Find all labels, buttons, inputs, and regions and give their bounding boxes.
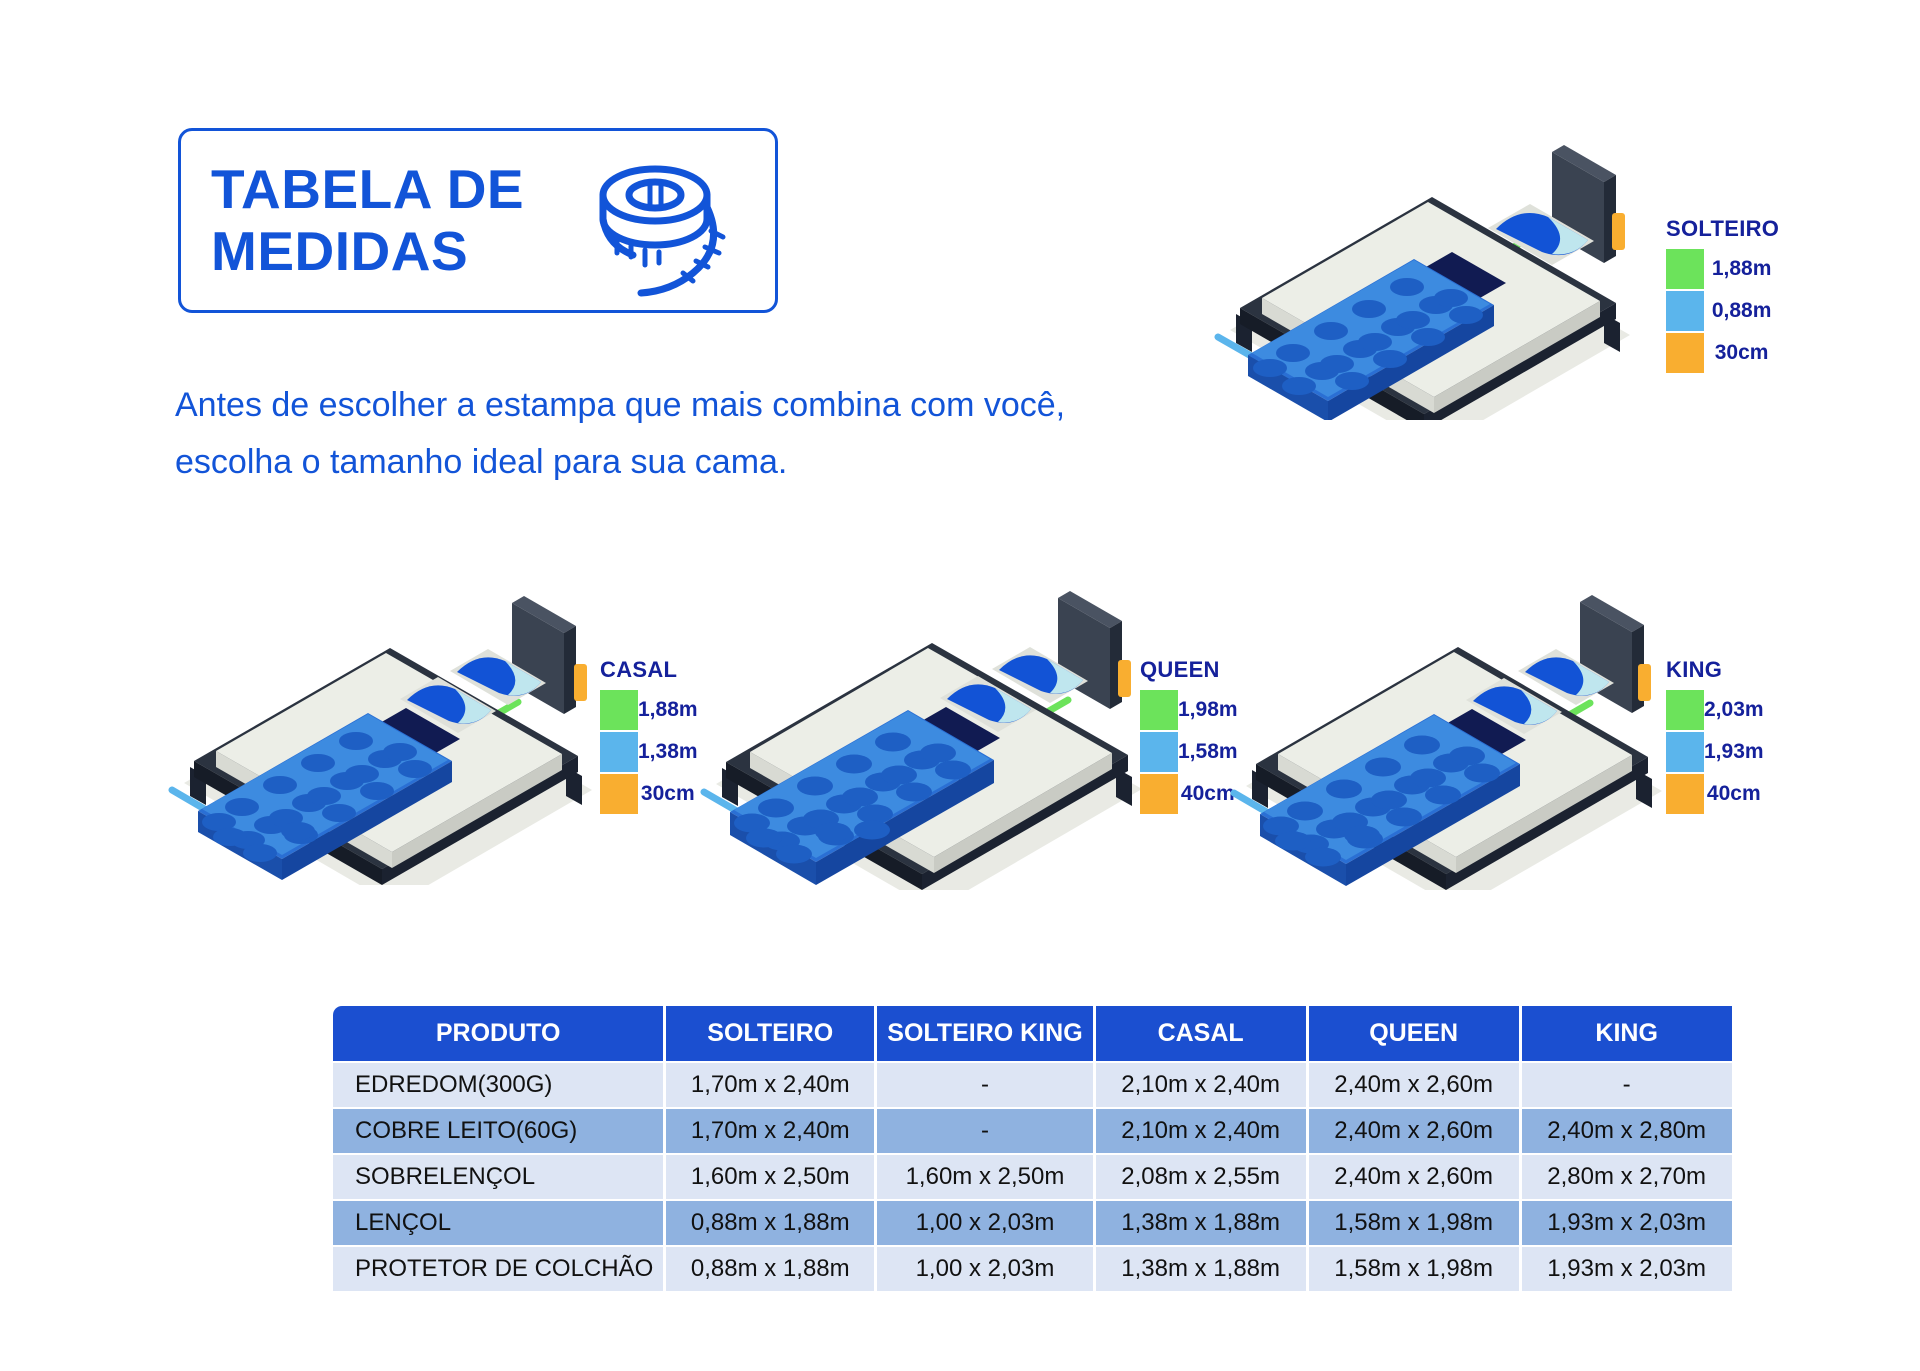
- cell-king: -: [1522, 1063, 1732, 1107]
- table-row: COBRE LEITO(60G) 1,70m x 2,40m - 2,10m x…: [333, 1109, 1732, 1153]
- cell-solteiro: 1,70m x 2,40m: [666, 1063, 874, 1107]
- swatch-green-icon: [600, 690, 638, 730]
- legend-solteiro: SOLTEIRO 1,88m 0,88m 30cm: [1666, 216, 1779, 374]
- cell-solteiro-king: 1,00 x 2,03m: [877, 1247, 1092, 1291]
- cell-casal: 2,10m x 2,40m: [1096, 1063, 1306, 1107]
- table-row: SOBRELENÇOL 1,60m x 2,50m 1,60m x 2,50m …: [333, 1155, 1732, 1199]
- swatch-lightblue-icon: [1666, 291, 1704, 331]
- legend-value: 1,88m: [1704, 257, 1779, 281]
- legend-title-solteiro: SOLTEIRO: [1666, 216, 1779, 242]
- swatch-orange-icon: [1666, 333, 1704, 373]
- legend-row: 30cm: [1666, 332, 1779, 374]
- legend-row: 2,03m: [1666, 689, 1764, 731]
- table-row: PROTETOR DE COLCHÃO 0,88m x 1,88m 1,00 x…: [333, 1247, 1732, 1291]
- cell-solteiro-king: 1,00 x 2,03m: [877, 1201, 1092, 1245]
- cell-casal: 2,10m x 2,40m: [1096, 1109, 1306, 1153]
- swatch-lightblue-icon: [1140, 732, 1178, 772]
- column-header-solteiro: SOLTEIRO: [666, 1006, 874, 1061]
- bed-illustration-solteiro: [1200, 100, 1660, 420]
- table-header-row: PRODUTO SOLTEIRO SOLTEIRO KING CASAL QUE…: [333, 1006, 1732, 1061]
- size-table: PRODUTO SOLTEIRO SOLTEIRO KING CASAL QUE…: [330, 1004, 1735, 1293]
- cell-queen: 1,58m x 1,98m: [1309, 1247, 1519, 1291]
- title-box: TABELA DE MEDIDAS: [178, 128, 778, 313]
- cell-king: 1,93m x 2,03m: [1522, 1201, 1732, 1245]
- cell-king: 2,40m x 2,80m: [1522, 1109, 1732, 1153]
- cell-produto: COBRE LEITO(60G): [333, 1109, 663, 1153]
- cell-queen: 2,40m x 2,60m: [1309, 1109, 1519, 1153]
- cell-produto: EDREDOM(300G): [333, 1063, 663, 1107]
- table-row: LENÇOL 0,88m x 1,88m 1,00 x 2,03m 1,38m …: [333, 1201, 1732, 1245]
- swatch-orange-icon: [1140, 774, 1178, 814]
- legend-row: 1,93m: [1666, 731, 1764, 773]
- legend-value: 0,88m: [1704, 299, 1779, 323]
- column-header-casal: CASAL: [1096, 1006, 1306, 1061]
- table-row: EDREDOM(300G) 1,70m x 2,40m - 2,10m x 2,…: [333, 1063, 1732, 1107]
- cell-king: 1,93m x 2,03m: [1522, 1247, 1732, 1291]
- legend-value: 1,93m: [1704, 740, 1764, 764]
- cell-queen: 2,40m x 2,60m: [1309, 1155, 1519, 1199]
- swatch-orange-icon: [600, 774, 638, 814]
- legend-value: 2,03m: [1704, 698, 1764, 722]
- swatch-lightblue-icon: [1666, 732, 1704, 772]
- legend-title-king: KING: [1666, 657, 1764, 683]
- cell-queen: 2,40m x 2,60m: [1309, 1063, 1519, 1107]
- swatch-green-icon: [1666, 249, 1704, 289]
- cell-solteiro-king: -: [877, 1109, 1092, 1153]
- cell-solteiro: 1,70m x 2,40m: [666, 1109, 874, 1153]
- legend-row: 0,88m: [1666, 290, 1779, 332]
- swatch-lightblue-icon: [600, 732, 638, 772]
- column-header-queen: QUEEN: [1309, 1006, 1519, 1061]
- page-title: TABELA DE MEDIDAS: [211, 159, 524, 282]
- legend-king: KING 2,03m 1,93m 40cm: [1666, 657, 1764, 815]
- cell-solteiro: 0,88m x 1,88m: [666, 1247, 874, 1291]
- cell-produto: SOBRELENÇOL: [333, 1155, 663, 1199]
- legend-value: 40cm: [1704, 782, 1764, 806]
- cell-produto: LENÇOL: [333, 1201, 663, 1245]
- column-header-produto: PRODUTO: [333, 1006, 663, 1061]
- cell-solteiro-king: -: [877, 1063, 1092, 1107]
- cell-solteiro: 1,60m x 2,50m: [666, 1155, 874, 1199]
- swatch-green-icon: [1140, 690, 1178, 730]
- swatch-orange-icon: [1666, 774, 1704, 814]
- bed-illustration-casal: [150, 545, 620, 885]
- subtitle-text: Antes de escolher a estampa que mais com…: [175, 377, 1075, 491]
- cell-produto: PROTETOR DE COLCHÃO: [333, 1247, 663, 1291]
- cell-casal: 1,38m x 1,88m: [1096, 1201, 1306, 1245]
- legend-row: 1,88m: [1666, 248, 1779, 290]
- cell-king: 2,80m x 2,70m: [1522, 1155, 1732, 1199]
- legend-row: 40cm: [1666, 773, 1764, 815]
- bed-illustration-queen: [680, 530, 1170, 890]
- swatch-green-icon: [1666, 690, 1704, 730]
- cell-solteiro-king: 1,60m x 2,50m: [877, 1155, 1092, 1199]
- bed-illustration-king: [1210, 540, 1690, 890]
- cell-casal: 1,38m x 1,88m: [1096, 1247, 1306, 1291]
- legend-value: 30cm: [1704, 341, 1779, 365]
- column-header-solteiro-king: SOLTEIRO KING: [877, 1006, 1092, 1061]
- cell-solteiro: 0,88m x 1,88m: [666, 1201, 874, 1245]
- column-header-king: KING: [1522, 1006, 1732, 1061]
- cell-casal: 2,08m x 2,55m: [1096, 1155, 1306, 1199]
- measuring-tape-icon: [593, 153, 733, 298]
- cell-queen: 1,58m x 1,98m: [1309, 1201, 1519, 1245]
